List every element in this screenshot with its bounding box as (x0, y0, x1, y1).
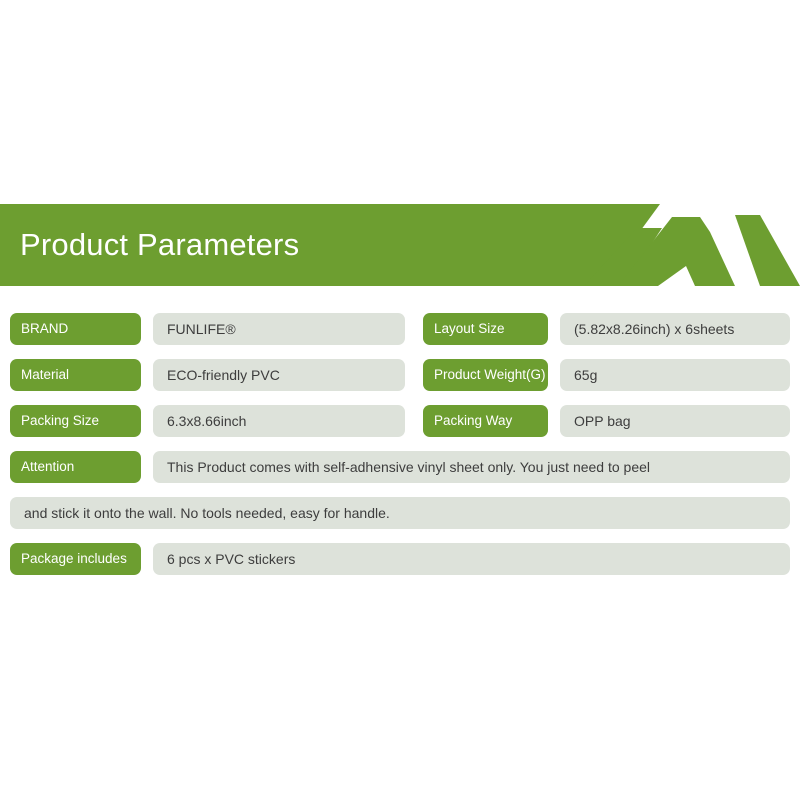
param-value-attention-line-1: This Product comes with self-adhensive v… (153, 451, 790, 483)
param-value-packing-way: OPP bag (560, 405, 790, 437)
param-label-package-includes: Package includes (10, 543, 141, 575)
parameters-table: BRAND FUNLIFE® Layout Size (5.82x8.26inc… (0, 313, 800, 589)
table-row: Material ECO-friendly PVC Product Weight… (0, 359, 800, 391)
table-row: Packing Size 6.3x8.66inch Packing Way OP… (0, 405, 800, 437)
param-value-material: ECO-friendly PVC (153, 359, 405, 391)
param-label-attention: Attention (10, 451, 141, 483)
param-label-product-weight: Product Weight(G) (423, 359, 548, 391)
header-banner: Product Parameters (0, 204, 800, 286)
table-row: BRAND FUNLIFE® Layout Size (5.82x8.26inc… (0, 313, 800, 345)
param-value-layout-size: (5.82x8.26inch) x 6sheets (560, 313, 790, 345)
param-value-packing-size: 6.3x8.66inch (153, 405, 405, 437)
page-title: Product Parameters (20, 204, 299, 286)
param-label-material: Material (10, 359, 141, 391)
param-value-product-weight: 65g (560, 359, 790, 391)
table-row-attention-continued: and stick it onto the wall. No tools nee… (0, 497, 800, 529)
product-parameters-page: Product Parameters BRAND FUNLIFE® Layout… (0, 0, 800, 800)
param-label-packing-way: Packing Way (423, 405, 548, 437)
param-value-brand: FUNLIFE® (153, 313, 405, 345)
table-row-package: Package includes 6 pcs x PVC stickers (0, 543, 800, 575)
param-label-packing-size: Packing Size (10, 405, 141, 437)
param-value-attention-line-2: and stick it onto the wall. No tools nee… (10, 497, 790, 529)
param-label-layout-size: Layout Size (423, 313, 548, 345)
param-value-package-includes: 6 pcs x PVC stickers (153, 543, 790, 575)
param-label-brand: BRAND (10, 313, 141, 345)
table-row-attention: Attention This Product comes with self-a… (0, 451, 800, 483)
mountain-peak-large (735, 215, 800, 286)
